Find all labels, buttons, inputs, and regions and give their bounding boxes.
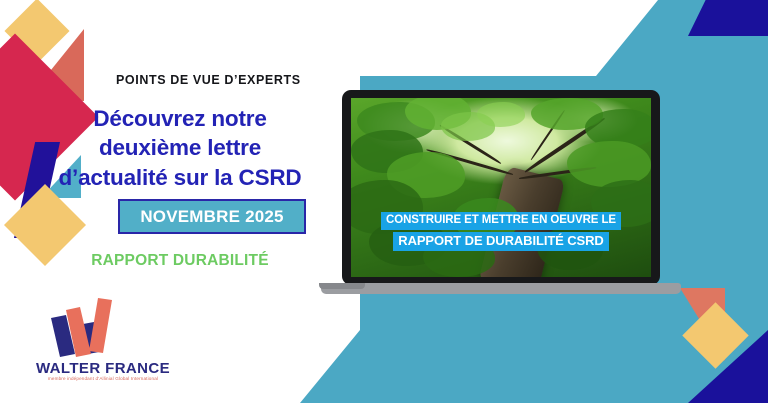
laptop-lid: CONSTRUIRE ET METTRE EN OEUVRE LE RAPPOR… bbox=[342, 90, 660, 285]
screen-caption-row-1: CONSTRUIRE ET METTRE EN OEUVRE LE bbox=[357, 210, 645, 229]
laptop-base bbox=[321, 283, 681, 294]
headline-line-1: Découvrez notre bbox=[0, 104, 360, 133]
laptop-screen: CONSTRUIRE ET METTRE EN OEUVRE LE RAPPOR… bbox=[351, 98, 651, 277]
headline-line-2: deuxième lettre bbox=[0, 133, 360, 162]
category-label: RAPPORT DURABILITÉ bbox=[0, 252, 360, 270]
date-badge: NOVEMBRE 2025 bbox=[118, 199, 306, 234]
screen-caption: CONSTRUIRE ET METTRE EN OEUVRE LE RAPPOR… bbox=[351, 210, 651, 251]
headline-line-3: d’actualité sur la CSRD bbox=[0, 163, 360, 192]
marketing-banner: POINTS DE VUE D’EXPERTS Découvrez notre … bbox=[0, 0, 768, 403]
logo-subtitle: membre indépendant d’Allinial Global Int… bbox=[18, 376, 188, 381]
headline: Découvrez notre deuxième lettre d’actual… bbox=[0, 104, 360, 192]
leaf-cluster bbox=[477, 102, 525, 127]
walter-france-w-mark-icon bbox=[42, 296, 116, 358]
screen-caption-row-2: RAPPORT DE DURABILITÉ CSRD bbox=[357, 230, 645, 251]
walter-france-logo: WALTER FRANCE membre indépendant d’Allin… bbox=[18, 296, 188, 391]
date-badge-label: NOVEMBRE 2025 bbox=[140, 207, 283, 227]
eyebrow-label: POINTS DE VUE D’EXPERTS bbox=[116, 73, 301, 87]
screen-caption-line-1: CONSTRUIRE ET METTRE EN OEUVRE LE bbox=[381, 212, 621, 229]
screen-caption-line-2: RAPPORT DE DURABILITÉ CSRD bbox=[393, 232, 608, 251]
logo-company-name: WALTER FRANCE bbox=[18, 360, 188, 377]
